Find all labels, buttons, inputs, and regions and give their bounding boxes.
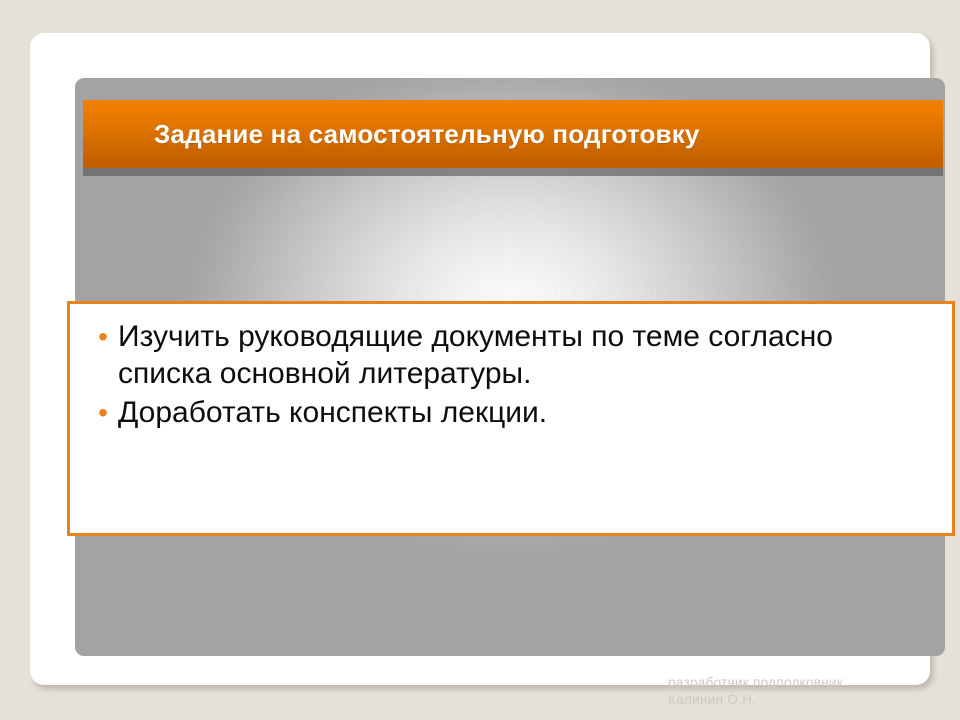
slide-body-box: • Изучить руководящие документы по теме … <box>67 301 955 536</box>
bullet-text: Изучить руководящие документы по теме со… <box>118 318 838 392</box>
footer-credit-line-2: Калинин О.Н. <box>668 691 928 708</box>
footer-credit-line-1: разработчик подполковник <box>668 674 928 691</box>
footer-credit: разработчик подполковник Калинин О.Н. <box>668 674 928 708</box>
list-item: • Изучить руководящие документы по теме … <box>88 318 934 392</box>
slide-card: Задание на самостоятельную подготовку • … <box>30 33 930 685</box>
list-item: • Доработать конспекты лекции. <box>88 394 934 431</box>
slide-title-bar: Задание на самостоятельную подготовку <box>83 100 943 168</box>
slide-title: Задание на самостоятельную подготовку <box>154 119 700 150</box>
bullet-text: Доработать конспекты лекции. <box>118 394 838 431</box>
bullet-icon: • <box>88 394 118 431</box>
bullet-icon: • <box>88 318 118 355</box>
